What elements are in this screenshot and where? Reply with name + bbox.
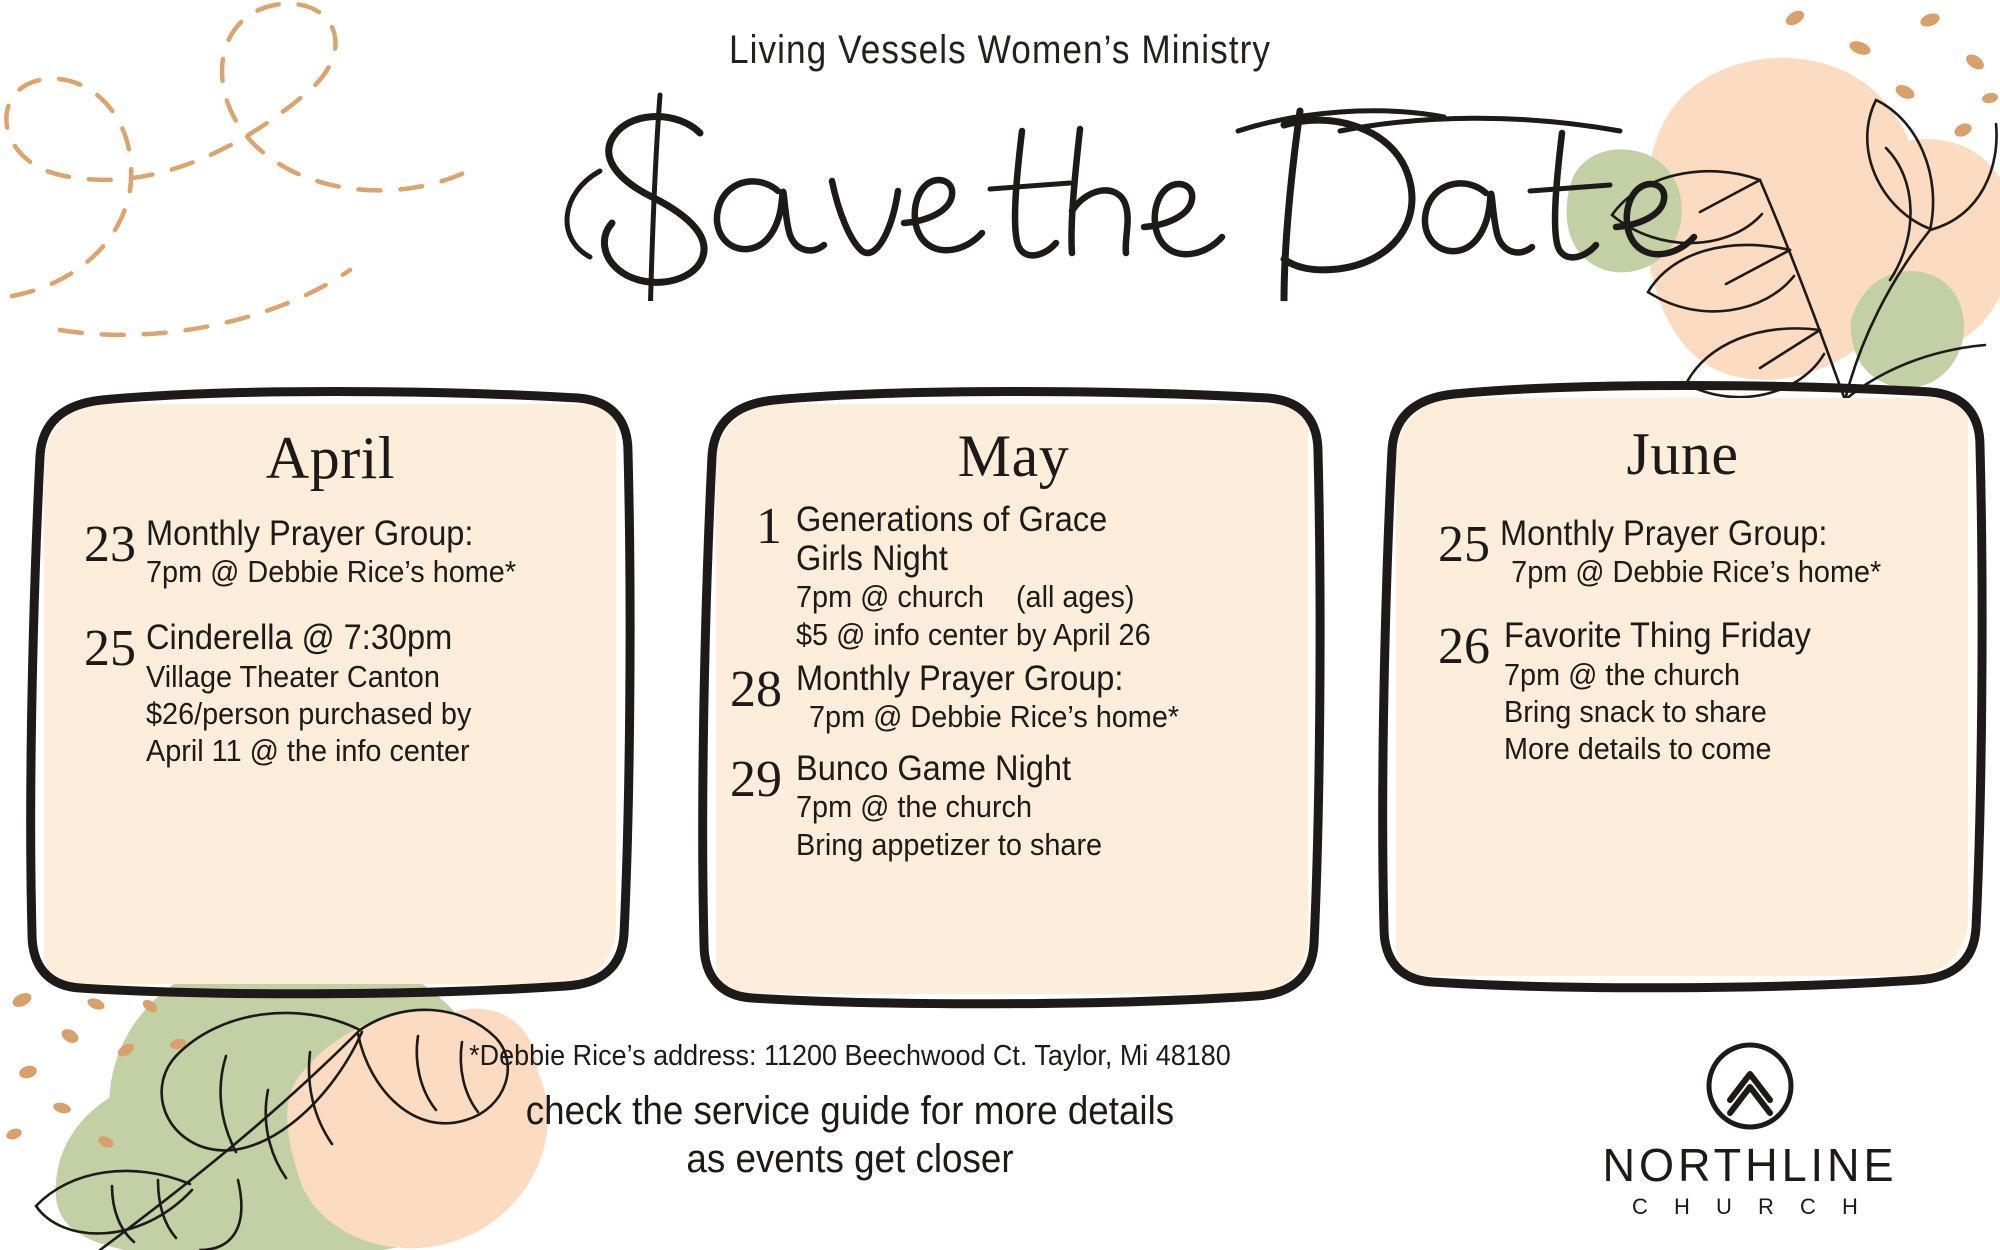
month-card-june: June 25 Monthly Prayer Group: 7pm @ Debb… [1370,372,1990,1002]
month-title-april: April [58,428,603,488]
event-title: Generations of Grace [796,500,1266,539]
event-subline: Village Theater Canton [146,658,571,695]
month-card-april: April 23 Monthly Prayer Group: 7pm @ Deb… [18,378,638,1008]
closing-line-2: as events get closer [399,1135,1301,1183]
event-lines: Monthly Prayer Group: 7pm @ Debbie Rice’… [782,659,1301,735]
month-card-may: May 1 Generations of Grace Girls Night 7… [690,378,1330,1018]
card-body: June 25 Monthly Prayer Group: 7pm @ Debb… [1410,424,1955,773]
card-body: April 23 Monthly Prayer Group: 7pm @ Deb… [58,428,603,775]
event-item[interactable]: 23 Monthly Prayer Group: 7pm @ Debbie Ri… [58,514,603,590]
event-subline: More details to come [1504,730,1923,767]
event-list-june: 25 Monthly Prayer Group: 7pm @ Debbie Ri… [1410,514,1955,767]
event-subline: 7pm @ church (all ages) [796,578,1266,615]
event-subline: 7pm @ the church [1504,656,1923,693]
event-subline: $26/person purchased by [146,695,571,732]
event-list-may: 1 Generations of Grace Girls Night 7pm @… [726,500,1301,863]
event-title: Cinderella @ 7:30pm [146,618,571,657]
event-subline: $5 @ info center by April 26 [796,616,1266,653]
event-title: Bunco Game Night [796,749,1266,788]
event-list-april: 23 Monthly Prayer Group: 7pm @ Debbie Ri… [58,514,603,769]
dot-cluster-bottom-left [5,990,187,1150]
script-title-wrap [0,71,2000,301]
month-title-june: June [1410,424,1955,484]
event-item[interactable]: 28 Monthly Prayer Group: 7pm @ Debbie Ri… [726,659,1301,735]
event-title: Monthly Prayer Group: [1500,514,1923,553]
event-title: Monthly Prayer Group: [146,514,571,553]
event-lines: Generations of Grace Girls Night 7pm @ c… [782,500,1301,653]
event-item[interactable]: 29 Bunco Game Night 7pm @ the church Bri… [726,749,1301,863]
event-item[interactable]: 25 Cinderella @ 7:30pm Village Theater C… [58,618,603,769]
event-day: 29 [726,749,782,804]
logo-wordmark: NORTHLINE [1583,1138,1916,1192]
event-day: 28 [726,659,782,714]
event-day: 23 [58,514,136,569]
event-subline: April 11 @ the info center [146,732,571,769]
event-subline: Bring snack to share [1504,693,1923,730]
event-item[interactable]: 26 Favorite Thing Friday 7pm @ the churc… [1410,616,1955,767]
poster-header: Living Vessels Women’s Ministry [0,28,2000,301]
event-lines: Favorite Thing Friday 7pm @ the church B… [1490,616,1955,767]
event-title-cont: Girls Night [796,539,1266,578]
save-the-date-script [0,71,2000,301]
event-day: 1 [726,500,782,551]
event-lines: Monthly Prayer Group: 7pm @ Debbie Rice’… [1490,514,1955,590]
event-subline: 7pm @ the church [796,788,1266,825]
event-subline: Bring appetizer to share [796,826,1266,863]
month-title-may: May [726,426,1301,486]
arch-chevron-icon [1704,1040,1796,1132]
event-item[interactable]: 1 Generations of Grace Girls Night 7pm @… [726,500,1301,653]
event-lines: Monthly Prayer Group: 7pm @ Debbie Rice’… [136,514,603,590]
event-lines: Bunco Game Night 7pm @ the church Bring … [782,749,1301,863]
event-item[interactable]: 25 Monthly Prayer Group: 7pm @ Debbie Ri… [1410,514,1955,590]
card-body: May 1 Generations of Grace Girls Night 7… [726,426,1301,869]
event-subline: 7pm @ Debbie Rice’s home* [796,698,1266,735]
event-day: 25 [1410,514,1490,569]
save-the-date-poster: Living Vessels Women’s Ministry [0,0,2000,1250]
event-subline: 7pm @ Debbie Rice’s home* [1500,553,1923,590]
northline-church-logo: NORTHLINE C H U R C H [1580,1040,1920,1220]
logo-subtitle: C H U R C H [1580,1194,1920,1220]
ministry-title: Living Vessels Women’s Ministry [120,28,1880,73]
closing-line-1: check the service guide for more details [399,1087,1301,1135]
event-title: Favorite Thing Friday [1504,616,1923,655]
event-subline: 7pm @ Debbie Rice’s home* [146,553,571,590]
event-day: 26 [1410,616,1490,671]
address-note: *Debbie Rice’s address: 11200 Beechwood … [394,1040,1305,1073]
footer-notes: *Debbie Rice’s address: 11200 Beechwood … [360,1040,1340,1183]
event-lines: Cinderella @ 7:30pm Village Theater Cant… [136,618,603,769]
event-day: 25 [58,618,136,673]
event-title: Monthly Prayer Group: [796,659,1266,698]
